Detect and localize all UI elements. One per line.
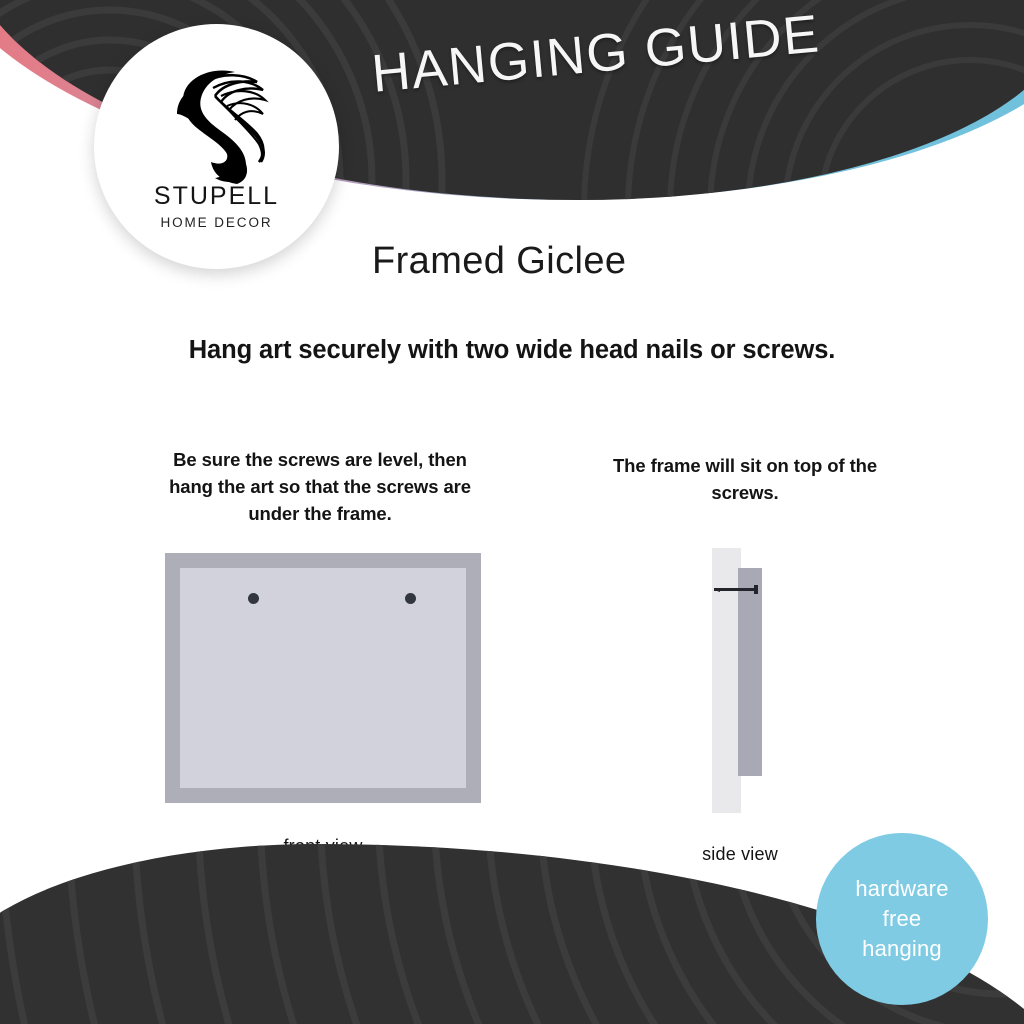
badge-line-2: free [883,904,922,934]
main-instruction-text: Hang art securely with two wide head nai… [0,336,1024,365]
stupell-swoosh-icon [153,58,281,186]
frame-side-strip [738,568,762,776]
side-view-label: side view [660,844,820,865]
hardware-free-badge: hardware free hanging [816,833,988,1005]
badge-line-3: hanging [862,934,942,964]
front-view-diagram [165,553,481,803]
side-view-diagram [700,545,780,815]
nail-icon [714,585,760,594]
badge-line-1: hardware [855,874,948,904]
nail-head [754,585,758,594]
brand-logo-badge: STUPELL HOME DECOR [94,24,339,269]
side-view-caption: The frame will sit on top of the screws. [600,452,890,506]
brand-name: STUPELL [154,182,279,211]
front-view-caption: Be sure the screws are level, then hang … [168,446,472,527]
nail-shaft [714,588,756,591]
brand-tagline: HOME DECOR [160,215,272,230]
product-name: Framed Giclee [372,240,626,283]
screw-dot-left [248,593,259,604]
frame-inner-panel [180,568,466,788]
screw-dot-right [405,593,416,604]
hanging-guide-infographic: HANGING GUIDE STUPELL HOME DECOR Framed … [0,0,1024,1024]
